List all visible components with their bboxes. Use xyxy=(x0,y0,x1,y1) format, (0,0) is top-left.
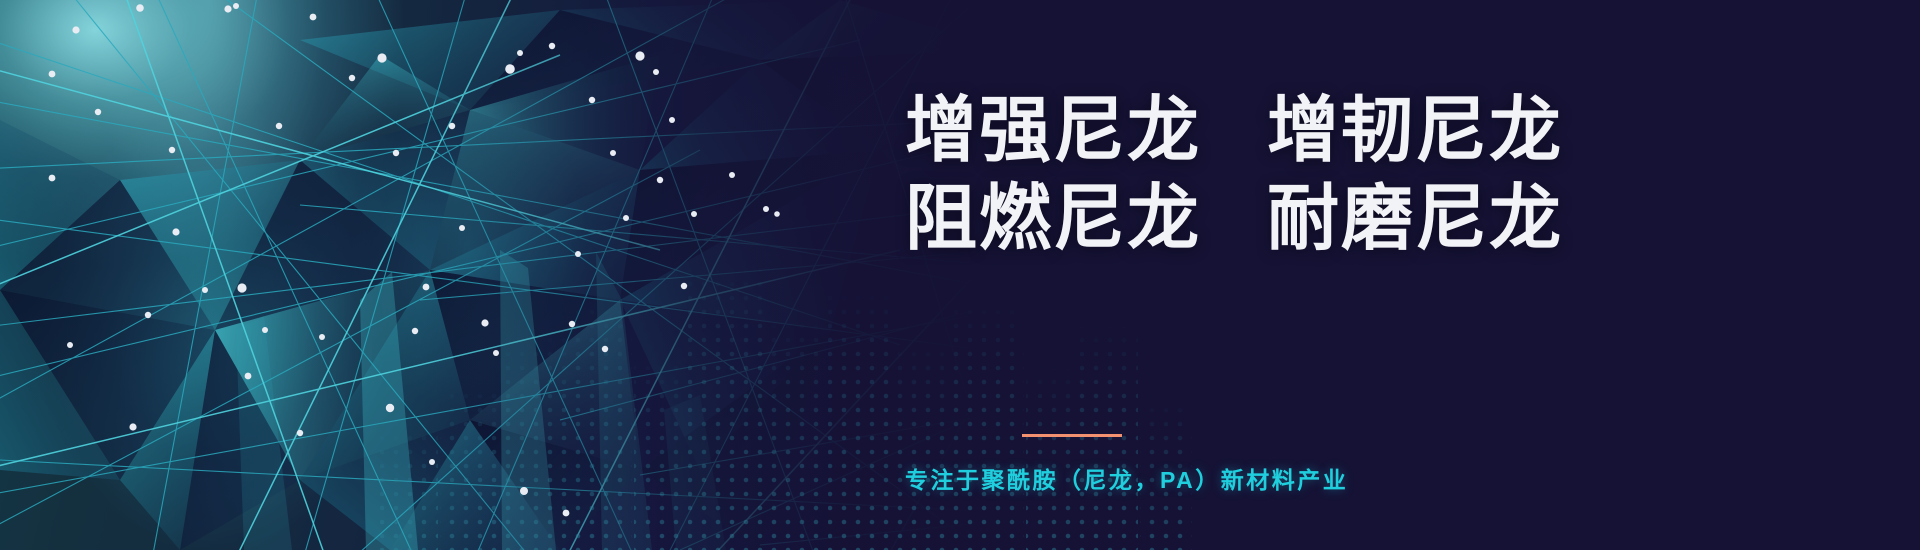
subtitle-text: 专注于聚酰胺（尼龙，PA）新材料产业 xyxy=(905,461,1348,495)
hero-text-block: 增强尼龙 增韧尼龙 阻燃尼龙 耐磨尼龙 专注于聚酰胺（尼龙，PA）新材料产业 xyxy=(905,0,1920,550)
headline-line-2: 阻燃尼龙 耐磨尼龙 xyxy=(905,183,1563,255)
orange-rule xyxy=(1022,434,1122,437)
headline-line-1: 增强尼龙 增韧尼龙 xyxy=(905,95,1563,167)
hero-banner: 增强尼龙 增韧尼龙 阻燃尼龙 耐磨尼龙 专注于聚酰胺（尼龙，PA）新材料产业 xyxy=(0,0,1920,550)
